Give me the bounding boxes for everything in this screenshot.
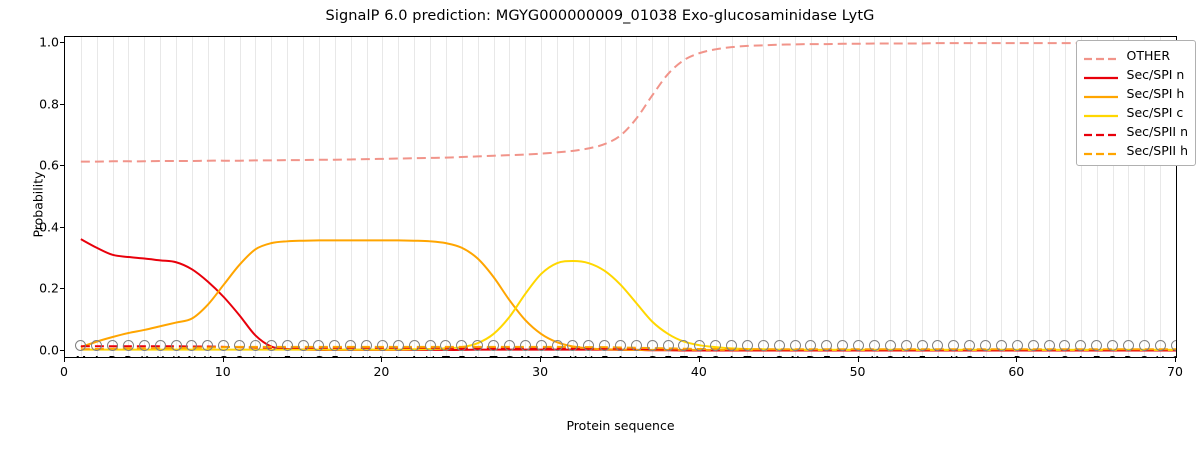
- residue-marker: [377, 340, 388, 351]
- residue-marker: [1139, 340, 1150, 351]
- residue-marker: [869, 340, 880, 351]
- y-axis-tick-label: 0.4: [0, 219, 59, 234]
- residue-marker: [1155, 340, 1166, 351]
- y-axis-tick: [60, 350, 64, 351]
- residue-marker: [282, 340, 293, 351]
- residue-marker: [552, 340, 563, 351]
- x-axis-tick-label: 30: [515, 364, 565, 379]
- residue-marker: [1012, 340, 1023, 351]
- residue-marker: [774, 340, 785, 351]
- x-axis-tick: [1175, 358, 1176, 362]
- residue-marker: [885, 340, 896, 351]
- x-axis-tick: [699, 358, 700, 362]
- residue-marker: [853, 340, 864, 351]
- residue-marker: [917, 340, 928, 351]
- residue-marker: [1123, 340, 1134, 351]
- legend-label: Sec/SPI h: [1127, 86, 1185, 101]
- residue-marker: [1107, 340, 1118, 351]
- residue-marker: [663, 340, 674, 351]
- residue-marker: [790, 340, 801, 351]
- residue-marker: [488, 340, 499, 351]
- x-axis-tick: [540, 358, 541, 362]
- legend-swatch-icon: [1083, 88, 1119, 100]
- plot-inner: MARRKKKNYSQLLFLGFIVLLAVTFLTGMADKYFAIGETP…: [65, 37, 1176, 357]
- residue-marker: [536, 340, 547, 351]
- residue-marker: [155, 340, 166, 351]
- residue-marker: [742, 340, 753, 351]
- residue-marker: [631, 340, 642, 351]
- x-axis-tick-label: 60: [991, 364, 1041, 379]
- y-axis-tick-label: 0.8: [0, 96, 59, 111]
- residue-marker: [139, 340, 150, 351]
- x-axis-tick-label: 0: [39, 364, 89, 379]
- x-axis-tick-label: 10: [198, 364, 248, 379]
- y-axis-tick-label: 0.2: [0, 281, 59, 296]
- residue-marker: [123, 340, 134, 351]
- residue-marker: [298, 340, 309, 351]
- legend-swatch-icon: [1083, 126, 1119, 138]
- series-line-sec-spi-c: [81, 261, 1176, 350]
- plot-area: MARRKKKNYSQLLFLGFIVLLAVTFLTGMADKYFAIGETP…: [64, 36, 1177, 358]
- legend-swatch-icon: [1083, 107, 1119, 119]
- residue-marker: [901, 340, 912, 351]
- curves-layer: [65, 37, 1176, 357]
- legend-item-sec-spi-n[interactable]: Sec/SPI n: [1083, 65, 1188, 84]
- y-axis-tick: [60, 227, 64, 228]
- series-line-other: [81, 43, 1176, 162]
- residue-marker: [520, 340, 531, 351]
- residue-marker: [234, 340, 245, 351]
- legend-label: Sec/SPI n: [1127, 67, 1185, 82]
- legend-item-sec-spi-h[interactable]: Sec/SPI h: [1083, 84, 1188, 103]
- legend-swatch-icon: [1083, 145, 1119, 157]
- x-axis-tick-label: 50: [833, 364, 883, 379]
- residue-marker: [266, 340, 277, 351]
- residue-marker: [504, 340, 515, 351]
- legend: OTHERSec/SPI nSec/SPI hSec/SPI cSec/SPII…: [1076, 40, 1196, 166]
- residue-marker: [615, 340, 626, 351]
- legend-swatch-icon: [1083, 50, 1119, 62]
- residue-marker: [647, 340, 658, 351]
- x-axis-tick-label: 20: [356, 364, 406, 379]
- y-axis-tick-label: 0.6: [0, 158, 59, 173]
- x-axis-tick: [64, 358, 65, 362]
- x-axis-tick: [1016, 358, 1017, 362]
- legend-label: Sec/SPII h: [1127, 143, 1188, 158]
- x-axis-tick: [381, 358, 382, 362]
- residue-marker: [996, 340, 1007, 351]
- legend-label: OTHER: [1127, 48, 1170, 63]
- residue-marker: [1028, 340, 1039, 351]
- x-axis-label: Protein sequence: [64, 418, 1177, 433]
- residue-marker: [393, 340, 404, 351]
- residue-marker: [409, 340, 420, 351]
- x-axis-tick: [223, 358, 224, 362]
- x-axis-tick-label: 40: [674, 364, 724, 379]
- y-axis-label: Probability: [31, 105, 46, 305]
- legend-item-other[interactable]: OTHER: [1083, 46, 1188, 65]
- residue-marker: [171, 340, 182, 351]
- y-axis-tick: [60, 165, 64, 166]
- y-axis-tick: [60, 104, 64, 105]
- residue-marker: [1044, 340, 1055, 351]
- residue-marker: [425, 340, 436, 351]
- residue-marker: [758, 340, 769, 351]
- legend-item-sec-spii-h[interactable]: Sec/SPII h: [1083, 141, 1188, 160]
- legend-label: Sec/SPII n: [1127, 124, 1188, 139]
- y-axis-tick: [60, 42, 64, 43]
- residue-marker: [980, 340, 991, 351]
- legend-item-sec-spi-c[interactable]: Sec/SPI c: [1083, 103, 1188, 122]
- legend-item-sec-spii-n[interactable]: Sec/SPII n: [1083, 122, 1188, 141]
- residue-marker: [361, 340, 372, 351]
- x-axis-tick-label: 70: [1150, 364, 1200, 379]
- signalp-prediction-figure: SignalP 6.0 prediction: MGYG000000009_01…: [0, 0, 1200, 450]
- x-axis-tick: [858, 358, 859, 362]
- page-title: SignalP 6.0 prediction: MGYG000000009_01…: [0, 8, 1200, 24]
- y-axis-tick-label: 1.0: [0, 35, 59, 50]
- y-axis-tick-label: 0.0: [0, 342, 59, 357]
- y-axis-tick: [60, 288, 64, 289]
- residue-letter: G: [1164, 353, 1176, 357]
- legend-swatch-icon: [1083, 69, 1119, 81]
- legend-label: Sec/SPI c: [1127, 105, 1184, 120]
- residue-marker: [250, 340, 261, 351]
